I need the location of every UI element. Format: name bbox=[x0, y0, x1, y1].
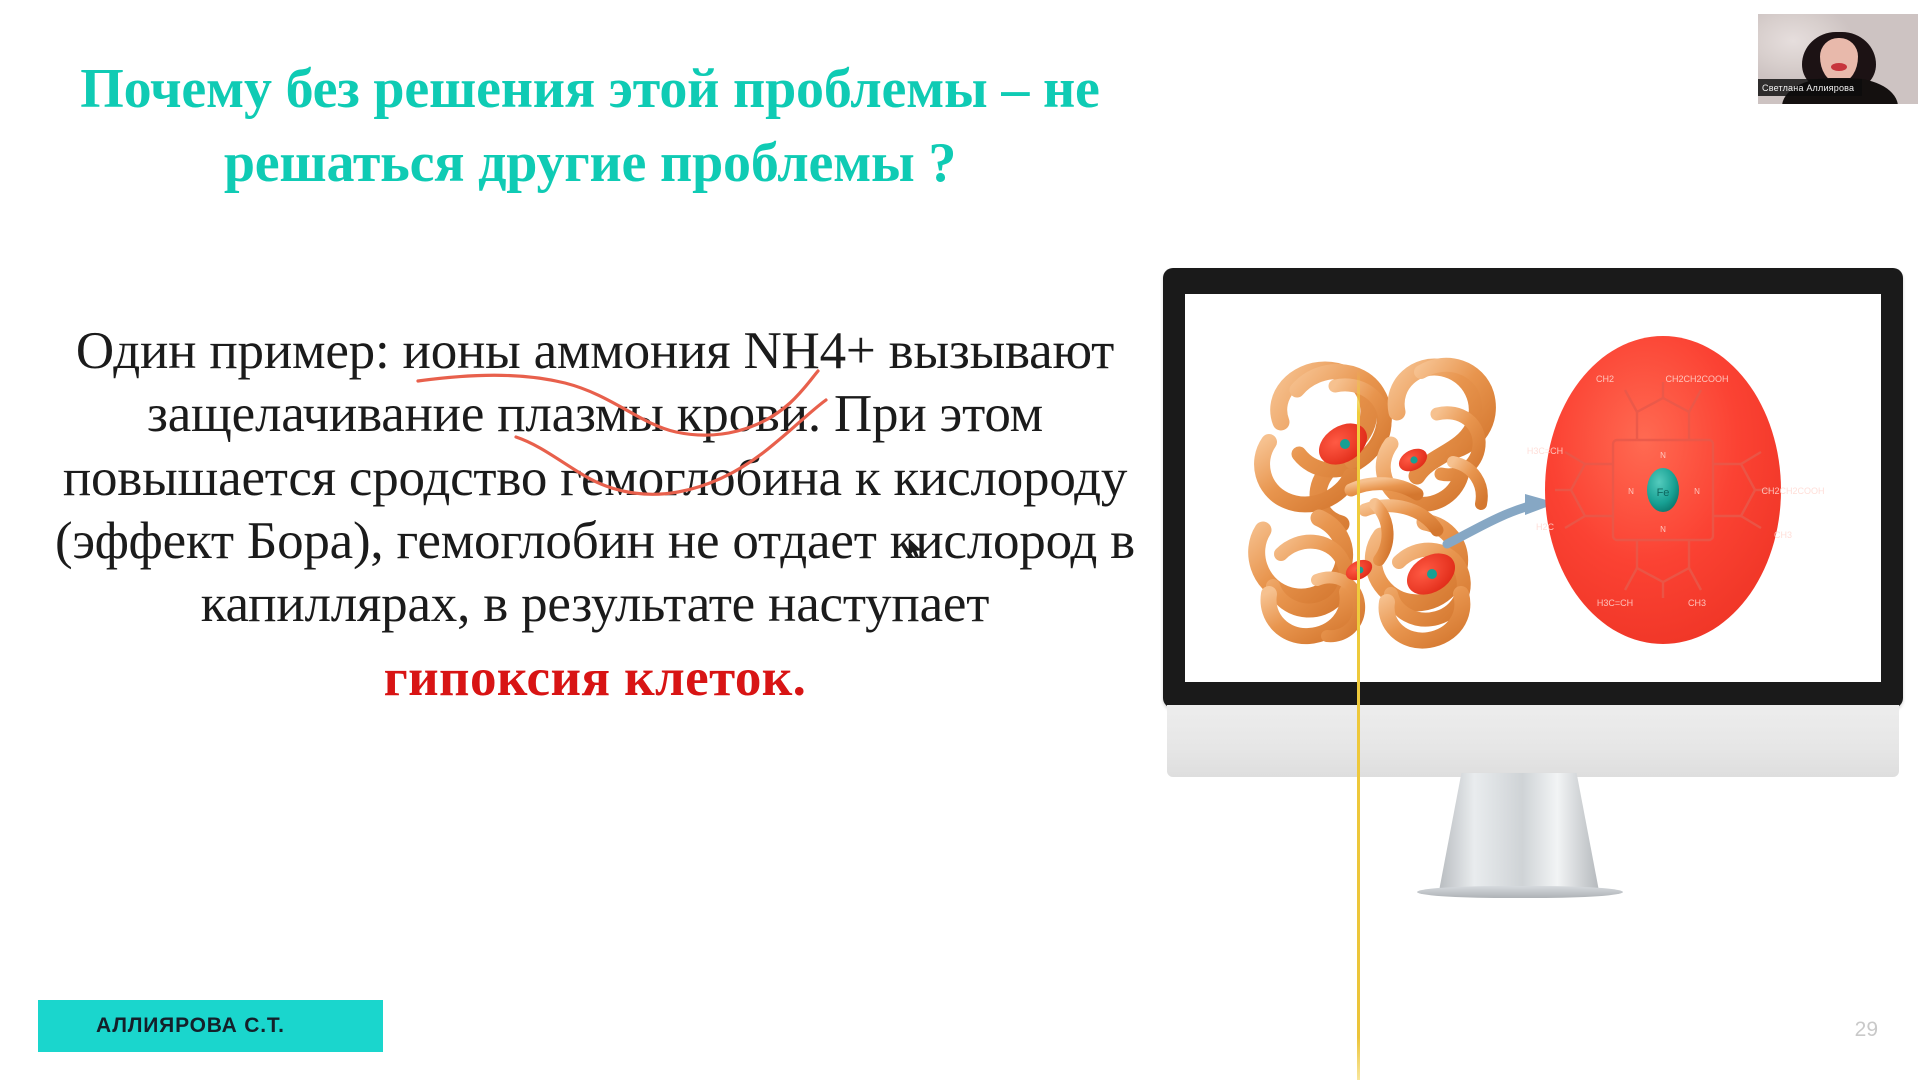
svg-text:Fe: Fe bbox=[1657, 487, 1670, 499]
monitor-illustration: Fe CH2 CH2CH2COOH H3C=CH CH2CH2COOH H2C … bbox=[1163, 268, 1903, 918]
monitor-bezel: Fe CH2 CH2CH2COOH H3C=CH CH2CH2COOH H2C … bbox=[1163, 268, 1903, 708]
svg-text:H2C: H2C bbox=[1536, 522, 1555, 532]
monitor-chin bbox=[1167, 705, 1899, 777]
slide-page-number: 29 bbox=[1855, 1018, 1878, 1042]
participant-face bbox=[1820, 38, 1858, 82]
monitor-stand-base bbox=[1417, 886, 1623, 898]
svg-text:CH2CH2COOH: CH2CH2COOH bbox=[1761, 486, 1824, 496]
mouse-cursor-icon bbox=[908, 538, 924, 562]
slide-body-text: Один пример: ионы аммония NH4+ вызывают … bbox=[30, 320, 1160, 710]
body-highlight-hypoxia: гипоксия клеток. bbox=[30, 647, 1160, 710]
svg-text:CH3: CH3 bbox=[1688, 598, 1706, 608]
webcam-name-bar: Светлана Аллиярова bbox=[1758, 79, 1862, 96]
webcam-participant-name: Светлана Аллиярова bbox=[1762, 83, 1854, 93]
presenter-name-badge: АЛЛИЯРОВА С.Т. bbox=[38, 1000, 383, 1052]
presenter-name-label: АЛЛИЯРОВА С.Т. bbox=[96, 1014, 285, 1038]
svg-text:CH2: CH2 bbox=[1596, 374, 1614, 384]
presentation-slide: Почему без решения этой проблемы – не ре… bbox=[0, 0, 1920, 1080]
hemoglobin-heme-diagram: Fe CH2 CH2CH2COOH H3C=CH CH2CH2COOH H2C … bbox=[1185, 294, 1881, 682]
monitor-stand-neck bbox=[1439, 773, 1599, 891]
svg-text:CH2CH2COOH: CH2CH2COOH bbox=[1665, 374, 1728, 384]
laser-pointer-line bbox=[1357, 370, 1360, 1080]
participant-lips bbox=[1831, 63, 1847, 71]
webcam-thumbnail[interactable]: Светлана Аллиярова bbox=[1758, 14, 1918, 104]
svg-text:N: N bbox=[1660, 525, 1666, 534]
svg-text:H3C=CH: H3C=CH bbox=[1527, 446, 1563, 456]
svg-text:N: N bbox=[1628, 487, 1634, 496]
svg-text:CH3: CH3 bbox=[1774, 530, 1792, 540]
svg-text:H3C=CH: H3C=CH bbox=[1597, 598, 1633, 608]
monitor-screen: Fe CH2 CH2CH2COOH H3C=CH CH2CH2COOH H2C … bbox=[1185, 294, 1881, 682]
body-paragraph: Один пример: ионы аммония NH4+ вызывают … bbox=[55, 322, 1135, 633]
svg-text:N: N bbox=[1660, 451, 1666, 460]
slide-title: Почему без решения этой проблемы – не ре… bbox=[30, 52, 1150, 201]
svg-text:N: N bbox=[1694, 487, 1700, 496]
